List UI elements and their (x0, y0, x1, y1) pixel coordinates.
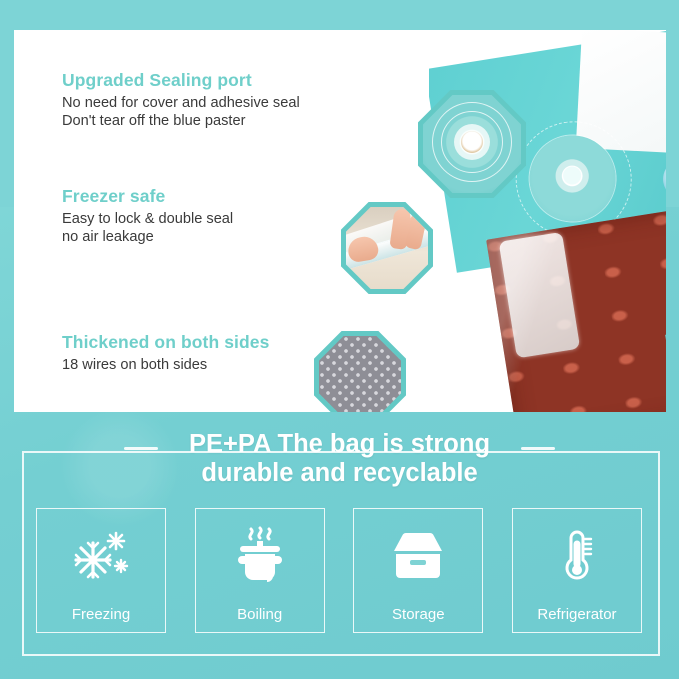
mesh-texture (319, 336, 401, 412)
tile-label: Refrigerator (513, 606, 641, 623)
vacuum-bag (429, 30, 666, 412)
snowflake-icon (37, 523, 165, 589)
feature-tiles: Freezing Boiling (36, 508, 642, 631)
valve-closeup-icon (418, 90, 526, 198)
feature-title: Thickened on both sides (62, 332, 269, 353)
steaming-pot-icon (196, 523, 324, 589)
feature-item-freezer-safe: Freezer safe Easy to lock & double seal … (62, 186, 233, 247)
tile-label: Freezing (37, 606, 165, 623)
feature-line-1: Easy to lock & double seal (62, 210, 233, 228)
tile-label: Storage (354, 606, 482, 623)
feature-line-2: no air leakage (62, 228, 233, 246)
feature-line-2: Don't tear off the blue paster (62, 112, 300, 130)
tile-storage: Storage (353, 508, 483, 633)
product-photo (429, 30, 666, 412)
hand-sealing-bag-icon (341, 202, 433, 294)
tile-label: Boiling (196, 606, 324, 623)
feature-title: Freezer safe (62, 186, 233, 207)
feature-line-1: 18 wires on both sides (62, 356, 269, 374)
product-marketing-image: ❄ ❄ ❄ Upgraded Sealing port No need (0, 0, 679, 679)
storage-box-icon (354, 523, 482, 589)
tile-freezing: Freezing (36, 508, 166, 633)
tile-boiling: Boiling (195, 508, 325, 633)
tile-refrigerator: Refrigerator (512, 508, 642, 633)
thermometer-icon (513, 523, 641, 589)
feature-title: Upgraded Sealing port (62, 70, 300, 91)
feature-card: Upgraded Sealing port No need for cover … (14, 30, 666, 412)
feature-item-sealing-port: Upgraded Sealing port No need for cover … (62, 70, 300, 131)
embossed-mesh-texture-icon (314, 331, 406, 412)
valve-ring-inner (441, 111, 503, 173)
feature-line-1: No need for cover and adhesive seal (62, 94, 300, 112)
feature-item-thickened: Thickened on both sides 18 wires on both… (62, 332, 269, 374)
hand-sealing-scene (346, 207, 428, 289)
